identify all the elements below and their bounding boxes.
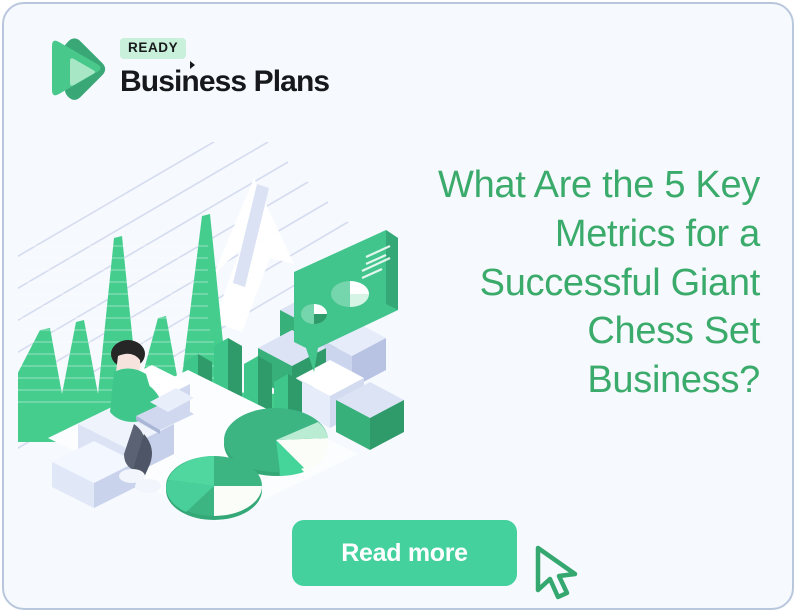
play-triangle-logo-icon	[34, 32, 112, 112]
pie-chart-small	[166, 456, 262, 520]
illustration-container	[18, 142, 438, 532]
ready-badge: READY	[120, 38, 186, 59]
brand-wordmark-label: Business Plans	[120, 65, 329, 98]
promo-banner: READY Business Plans What Are the 5 Key …	[2, 2, 794, 610]
page-title: What Are the 5 Key Metrics for a Success…	[410, 161, 760, 404]
brand-logo-lockup[interactable]: READY Business Plans	[34, 30, 334, 116]
brand-logo-text: READY Business Plans	[120, 38, 334, 97]
wordmark-tick-icon	[190, 61, 195, 69]
mouse-pointer-arrow-icon	[530, 542, 594, 604]
brand-wordmark: Business Plans	[120, 66, 334, 98]
read-more-button[interactable]: Read more	[292, 520, 517, 586]
